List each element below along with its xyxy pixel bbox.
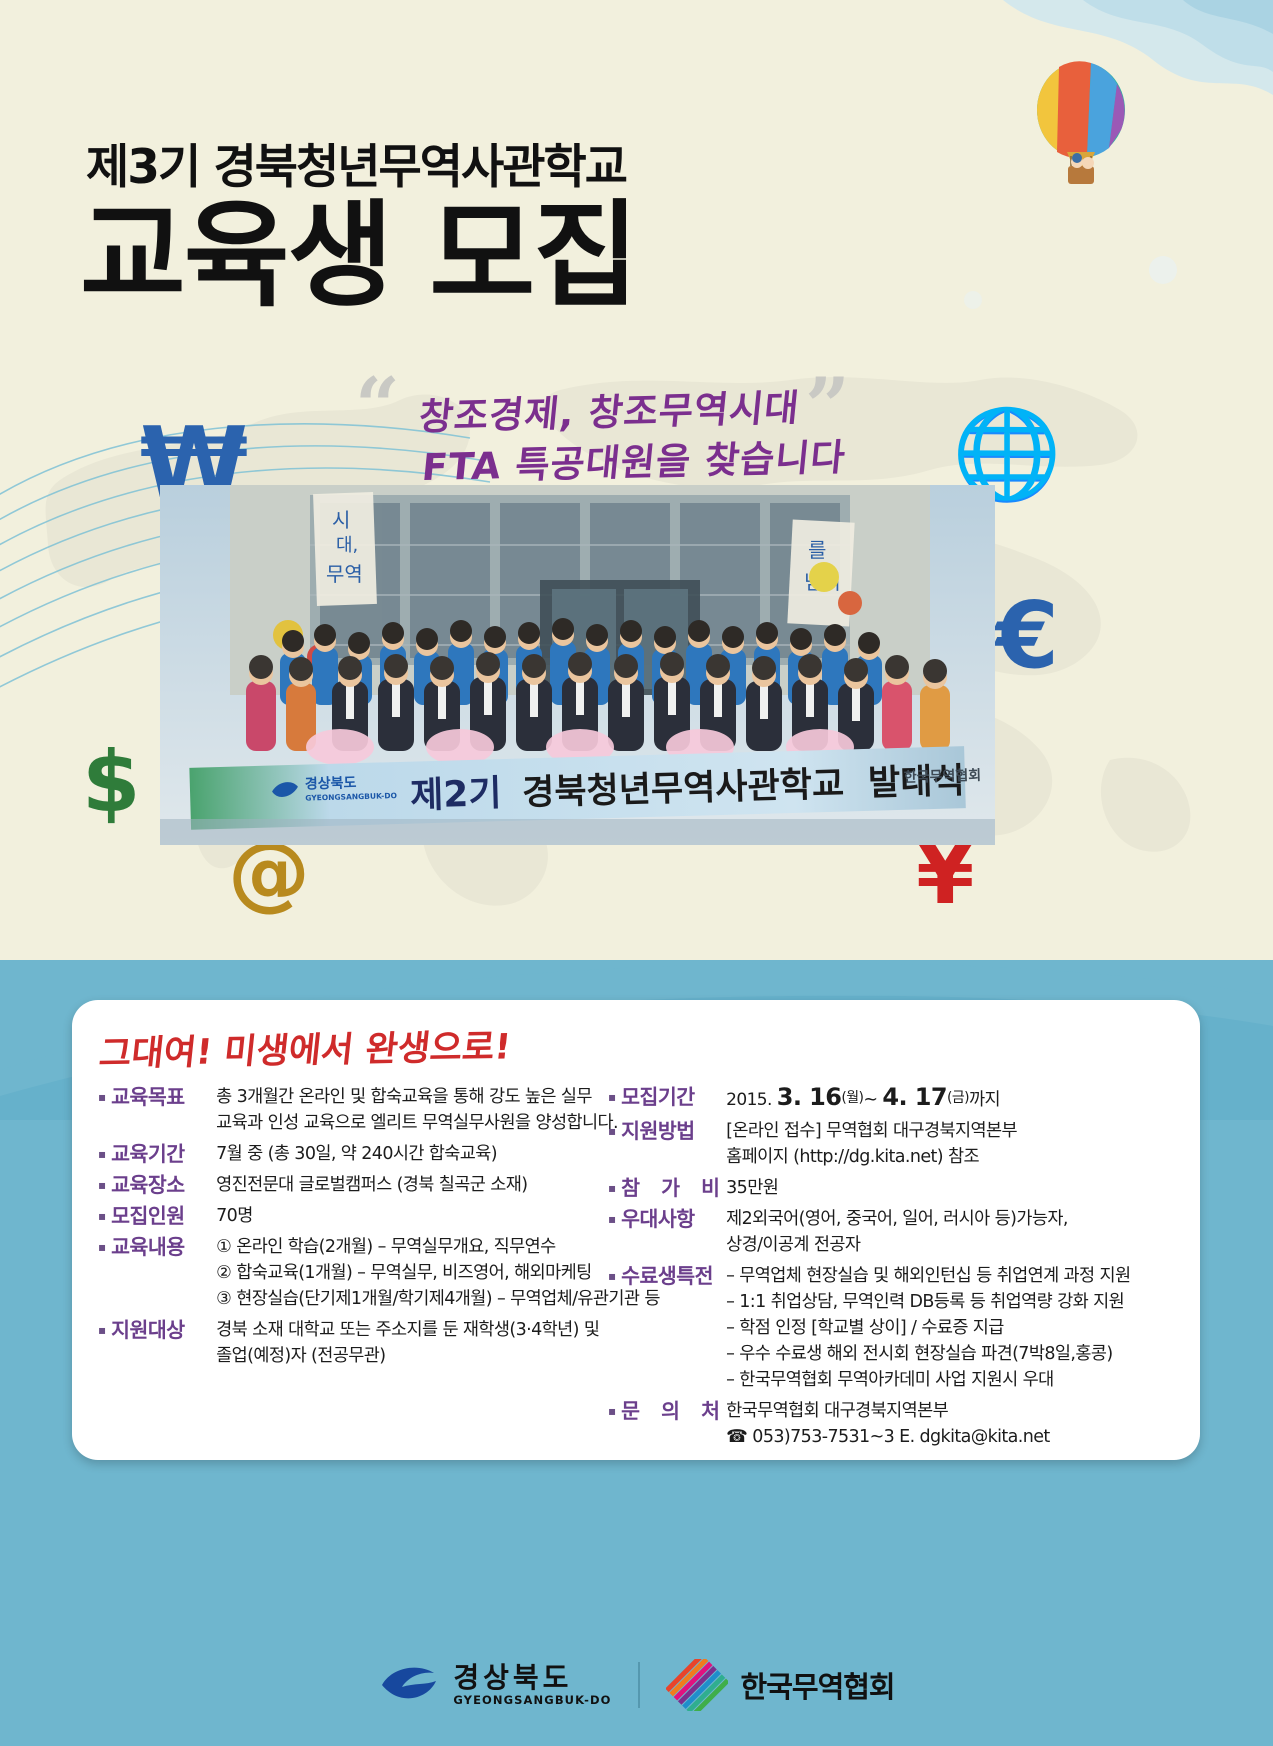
info-row-label: 지원방법 [621, 1118, 722, 1144]
tagline-line-2: FTA 특공대원을 찾습니다 [420, 427, 849, 491]
dollar-currency-icon: $ [82, 740, 140, 824]
info-row-value: 2015. 3. 16(월)~ 4. 17(금)까지 [722, 1084, 1188, 1113]
info-row: ▪지원대상경북 소재 대학교 또는 주소지를 둔 재학생(3·4학년) 및졸업(… [98, 1317, 618, 1369]
bullet-icon: ▪ [98, 1234, 106, 1260]
poster-headline: 교육생 모집 [80, 196, 637, 317]
info-value-line: 졸업(예정)자 (전공무관) [216, 1343, 618, 1369]
info-column-right: ▪모집기간2015. 3. 16(월)~ 4. 17(금)까지▪지원방법[온라인… [608, 1084, 1188, 1455]
quote-open-icon: “ [355, 368, 400, 446]
bullet-icon: ▪ [98, 1317, 106, 1343]
info-row: ▪지원방법[온라인 접수] 무역협회 대구경북지역본부홈페이지 (http://… [608, 1118, 1188, 1170]
gyeongsangbuk-roman: GYEONGSANGBUK-DO [453, 1693, 611, 1707]
info-row: ▪수료생특전– 무역업체 현장실습 및 해외인턴십 등 취업연계 과정 지원– … [608, 1263, 1188, 1393]
info-value-line: – 1:1 취업상담, 무역인력 DB등록 등 취업역량 강화 지원 [726, 1289, 1188, 1315]
info-value-line: 총 3개월간 온라인 및 합숙교육을 통해 강도 높은 실무 [216, 1084, 618, 1110]
bullet-icon: ▪ [608, 1206, 616, 1232]
info-row-value: 한국무역협회 대구경북지역본부☎ 053)753-7531~3 E. dgkit… [722, 1398, 1188, 1450]
group-photo-image: 시 대, 무역 를 넘어 [160, 485, 995, 845]
info-row-value: 경북 소재 대학교 또는 주소지를 둔 재학생(3·4학년) 및졸업(예정)자 … [212, 1317, 618, 1369]
info-row-value: 7월 중 (총 30일, 약 240시간 합숙교육) [212, 1141, 618, 1167]
svg-text:무역: 무역 [326, 562, 363, 586]
info-row: ▪우대사항제2외국어(영어, 중국어, 일어, 러시아 등)가능자,상경/이공계… [608, 1206, 1188, 1258]
info-row: ▪모집기간2015. 3. 16(월)~ 4. 17(금)까지 [608, 1084, 1188, 1113]
bullet-icon: ▪ [98, 1203, 106, 1229]
info-row-value: 영진전문대 글로벌캠퍼스 (경북 칠곡군 소재) [212, 1172, 618, 1198]
info-row-value: ① 온라인 학습(2개월) – 무역실무개요, 직무연수② 합숙교육(1개월) … [212, 1234, 660, 1312]
info-value-line: 7월 중 (총 30일, 약 240시간 합숙교육) [216, 1141, 618, 1167]
info-row: ▪문 의 처한국무역협회 대구경북지역본부☎ 053)753-7531~3 E.… [608, 1398, 1188, 1450]
info-row-value: 70명 [212, 1203, 618, 1229]
info-row: ▪교육목표총 3개월간 온라인 및 합숙교육을 통해 강도 높은 실무교육과 인… [98, 1084, 618, 1136]
info-value-line: ☎ 053)753-7531~3 E. dgkita@kita.net [726, 1424, 1188, 1450]
info-row-label: 모집기간 [621, 1084, 722, 1110]
info-row-value: 35만원 [722, 1175, 1188, 1201]
info-row: ▪참 가 비35만원 [608, 1175, 1188, 1201]
info-row-label: 문 의 처 [621, 1398, 722, 1424]
footer-divider [638, 1662, 640, 1708]
kita-logo: 한국무역협회 [666, 1659, 895, 1711]
gyeongsangbuk-emblem-icon [378, 1661, 440, 1709]
info-value-line: – 한국무역협회 무역아카데미 사업 지원시 우대 [726, 1367, 1188, 1393]
svg-text:경상북도: 경상북도 [305, 774, 357, 792]
info-row-label: 교육목표 [111, 1084, 212, 1110]
info-value-line: ① 온라인 학습(2개월) – 무역실무개요, 직무연수 [216, 1234, 660, 1260]
info-row: ▪교육내용① 온라인 학습(2개월) – 무역실무개요, 직무연수② 합숙교육(… [98, 1234, 618, 1312]
euro-currency-icon: € [995, 590, 1059, 682]
info-value-line: 홈페이지 (http://dg.kita.net) 참조 [726, 1144, 1188, 1170]
info-row-value: [온라인 접수] 무역협회 대구경북지역본부홈페이지 (http://dg.ki… [722, 1118, 1188, 1170]
gyeongsangbuk-name: 경상북도 [453, 1663, 611, 1692]
info-row: ▪모집인원70명 [98, 1203, 618, 1229]
top-right-decoration [853, 0, 1273, 330]
gyeongsangbuk-logo: 경상북도 GYEONGSANGBUK-DO [378, 1661, 611, 1709]
info-row-label: 지원대상 [111, 1317, 212, 1343]
info-row-label: 교육장소 [111, 1172, 212, 1198]
info-value-line: 제2외국어(영어, 중국어, 일어, 러시아 등)가능자, [726, 1206, 1188, 1232]
info-value-line: 영진전문대 글로벌캠퍼스 (경북 칠곡군 소재) [216, 1172, 618, 1198]
bullet-icon: ▪ [608, 1175, 616, 1201]
info-value-line: 한국무역협회 대구경북지역본부 [726, 1398, 1188, 1424]
info-value-line: 70명 [216, 1203, 618, 1229]
svg-text:제2기: 제2기 [410, 773, 502, 817]
bullet-icon: ▪ [608, 1084, 616, 1110]
info-value-line: – 학점 인정 [학교별 상이] / 수료증 지급 [726, 1315, 1188, 1341]
bullet-icon: ▪ [608, 1118, 616, 1144]
info-value-line: 35만원 [726, 1175, 1188, 1201]
bullet-icon: ▪ [98, 1172, 106, 1198]
bullet-icon: ▪ [98, 1084, 106, 1110]
info-value-line: – 무역업체 현장실습 및 해외인턴십 등 취업연계 과정 지원 [726, 1263, 1188, 1289]
svg-text:대,: 대, [336, 535, 358, 556]
info-row-label: 우대사항 [621, 1206, 722, 1232]
svg-text:한국무역협회: 한국무역협회 [904, 767, 982, 786]
bullet-icon: ▪ [98, 1141, 106, 1167]
info-row-label: 교육내용 [111, 1234, 212, 1260]
info-row: ▪교육기간7월 중 (총 30일, 약 240시간 합숙교육) [98, 1141, 618, 1167]
bullet-icon: ▪ [608, 1398, 616, 1424]
info-row: ▪교육장소영진전문대 글로벌캠퍼스 (경북 칠곡군 소재) [98, 1172, 618, 1198]
kita-emblem-icon [666, 1659, 728, 1711]
svg-text:를: 를 [808, 538, 826, 562]
info-value-line: 상경/이공계 전공자 [726, 1232, 1188, 1258]
info-value-line: ② 합숙교육(1개월) – 무역실무, 비즈영어, 해외마케팅 [216, 1260, 660, 1286]
poster-kicker: 제3기 경북청년무역사관학교 [86, 128, 626, 197]
info-row-label: 수료생특전 [621, 1263, 722, 1289]
svg-text:시: 시 [332, 508, 350, 532]
info-value-line: 경북 소재 대학교 또는 주소지를 둔 재학생(3·4학년) 및 [216, 1317, 618, 1343]
info-row-label: 모집인원 [111, 1203, 212, 1229]
info-value-line: ③ 현장실습(단기제1개월/학기제4개월) – 무역업체/유관기관 등 [216, 1286, 660, 1312]
info-row-value: 제2외국어(영어, 중국어, 일어, 러시아 등)가능자,상경/이공계 전공자 [722, 1206, 1188, 1258]
tagline-block: “ ” 창조경제, 창조무역시대 FTA 특공대원을 찾습니다 [355, 360, 875, 480]
info-row-value: 총 3개월간 온라인 및 합숙교육을 통해 강도 높은 실무교육과 인성 교육으… [212, 1084, 618, 1136]
info-value-line: [온라인 접수] 무역협회 대구경북지역본부 [726, 1118, 1188, 1144]
poster-root: ₩ 🌐 € $ @ ¥ 제3기 경북청년무역사관학교 교육생 모집 “ ” 창조… [0, 0, 1273, 1746]
info-value-line: 교육과 인성 교육으로 엘리트 무역실무사원을 양성합니다. [216, 1110, 618, 1136]
bullet-icon: ▪ [608, 1263, 616, 1289]
info-row-label: 참 가 비 [621, 1175, 722, 1201]
info-row-label: 교육기간 [111, 1141, 212, 1167]
kita-name: 한국무역협회 [741, 1664, 895, 1706]
group-photo: 시 대, 무역 를 넘어 [160, 485, 995, 845]
info-column-left: ▪교육목표총 3개월간 온라인 및 합숙교육을 통해 강도 높은 실무교육과 인… [98, 1084, 618, 1374]
footer-logos: 경상북도 GYEONGSANGBUK-DO 한국무역협회 [0, 1640, 1273, 1730]
info-value-line: – 우수 수료생 해외 전시회 현장실습 파견(7박8일,홍콩) [726, 1341, 1188, 1367]
card-title: 그대여! 미생에서 완생으로! [97, 1018, 514, 1076]
info-row-value: – 무역업체 현장실습 및 해외인턴십 등 취업연계 과정 지원– 1:1 취업… [722, 1263, 1188, 1393]
